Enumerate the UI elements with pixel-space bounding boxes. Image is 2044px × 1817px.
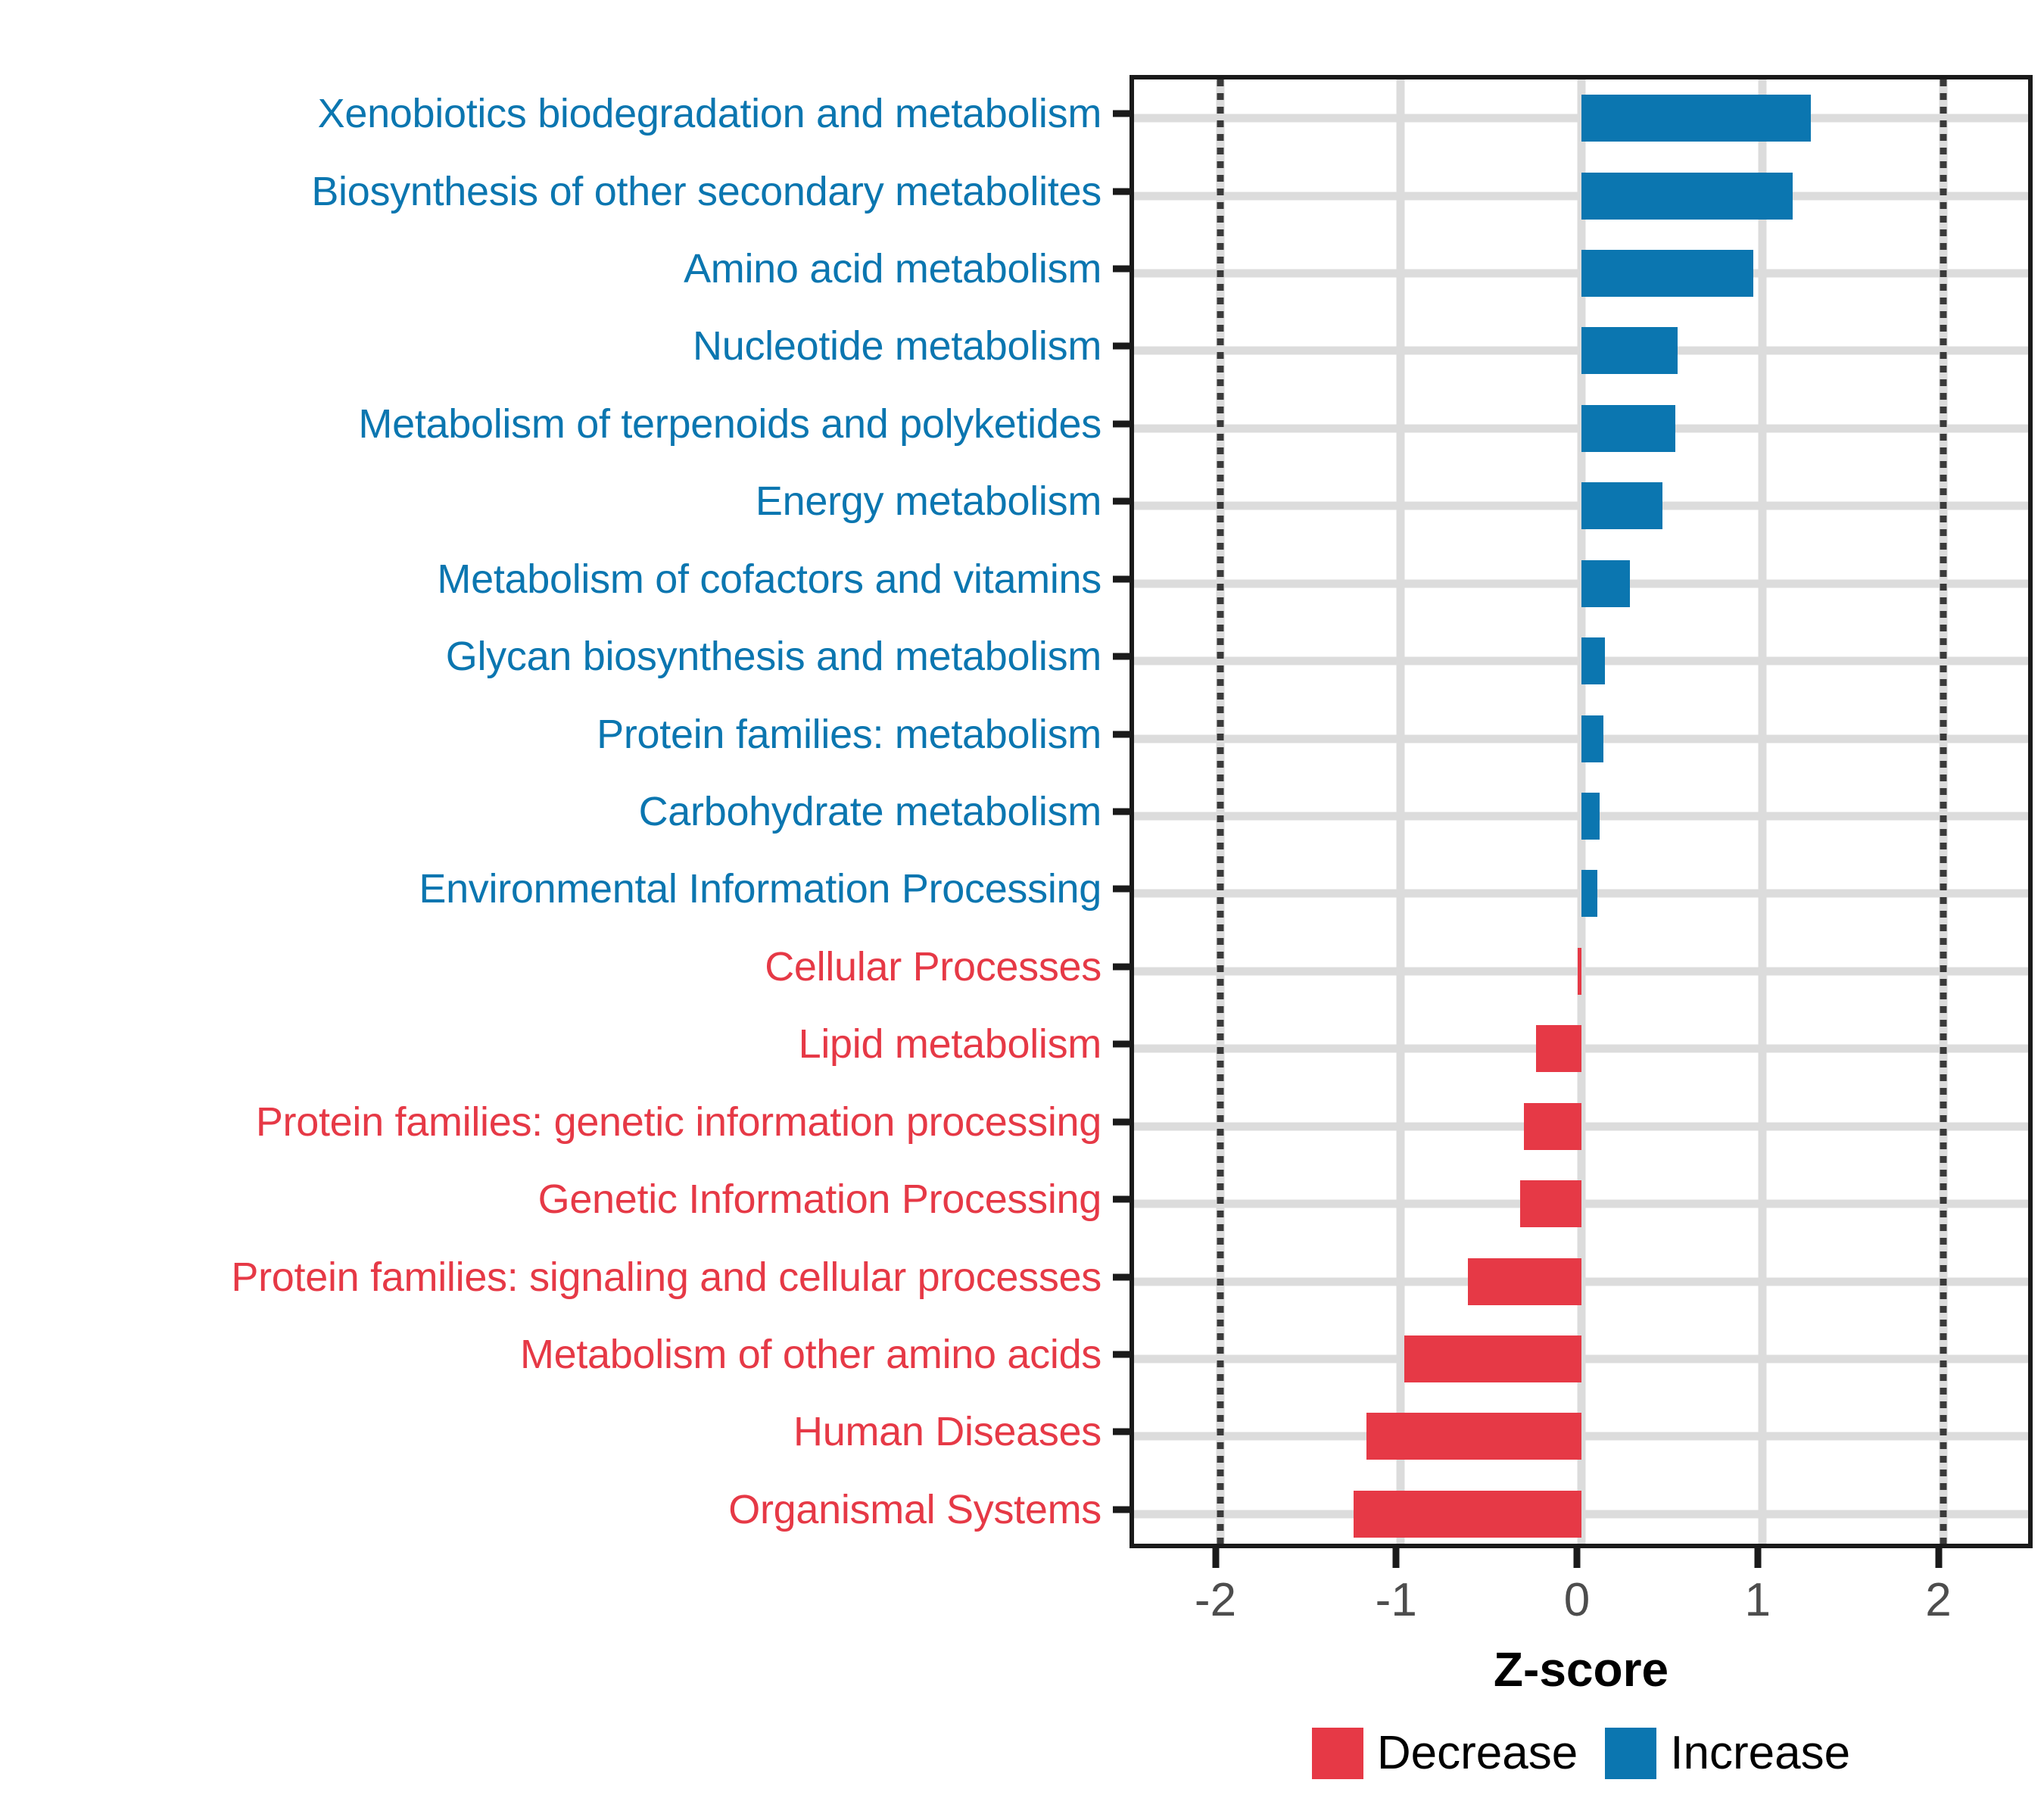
- y-axis-tick: [1113, 188, 1131, 195]
- y-axis-label: Protein families: signaling and cellular…: [0, 1257, 1101, 1298]
- y-axis-label: Glycan biosynthesis and metabolism: [0, 636, 1101, 677]
- plot-panel: [1129, 75, 2033, 1548]
- bar: [1354, 1491, 1581, 1538]
- y-axis-label: Organismal Systems: [0, 1489, 1101, 1530]
- bar: [1581, 560, 1630, 607]
- gridline-vertical: [1758, 79, 1766, 1544]
- y-axis-label: Cellular Processes: [0, 946, 1101, 987]
- y-axis-tick: [1113, 1196, 1131, 1203]
- bar: [1581, 173, 1793, 220]
- legend-swatch: [1312, 1728, 1363, 1779]
- reference-line: [1940, 79, 1946, 1544]
- y-axis-tick: [1113, 731, 1131, 737]
- x-axis-tick-label: -1: [1376, 1573, 1417, 1627]
- y-axis-label: Metabolism of other amino acids: [0, 1334, 1101, 1375]
- bar: [1536, 1025, 1581, 1072]
- bar: [1581, 637, 1605, 684]
- y-axis-label: Protein families: metabolism: [0, 714, 1101, 755]
- x-axis-tick: [1754, 1548, 1761, 1568]
- y-axis-label: Genetic Information Processing: [0, 1179, 1101, 1220]
- y-axis-labels: Xenobiotics biodegradation and metabolis…: [0, 75, 1101, 1548]
- legend-item[interactable]: Decrease: [1312, 1726, 1578, 1780]
- legend: DecreaseIncrease: [1129, 1726, 2033, 1780]
- y-axis-tick: [1113, 420, 1131, 427]
- bar: [1524, 1103, 1581, 1150]
- legend-swatch: [1605, 1728, 1656, 1779]
- bar: [1581, 482, 1662, 529]
- reference-line: [1217, 79, 1223, 1544]
- y-axis-tick: [1113, 1506, 1131, 1513]
- y-axis-label: Protein families: genetic information pr…: [0, 1102, 1101, 1142]
- y-axis-tick: [1113, 575, 1131, 582]
- y-axis-tick: [1113, 498, 1131, 505]
- y-axis-label: Carbohydrate metabolism: [0, 791, 1101, 832]
- bar: [1468, 1258, 1581, 1305]
- bar: [1581, 95, 1811, 142]
- bar: [1581, 793, 1600, 840]
- y-axis-tick: [1113, 111, 1131, 117]
- y-axis-label: Energy metabolism: [0, 481, 1101, 522]
- y-axis-tick: [1113, 653, 1131, 660]
- y-axis-label: Lipid metabolism: [0, 1024, 1101, 1064]
- bar: [1581, 715, 1603, 762]
- gridline-vertical: [1397, 79, 1405, 1544]
- y-axis-label: Metabolism of cofactors and vitamins: [0, 559, 1101, 600]
- x-axis-title: Z-score: [1129, 1641, 2033, 1697]
- bar: [1578, 948, 1581, 995]
- y-axis-tick: [1113, 1351, 1131, 1357]
- y-axis-label: Human Diseases: [0, 1411, 1101, 1452]
- bar: [1581, 870, 1597, 917]
- y-axis-tick: [1113, 266, 1131, 273]
- bar: [1404, 1335, 1581, 1382]
- y-axis-tick: [1113, 886, 1131, 893]
- legend-label: Increase: [1670, 1726, 1850, 1780]
- x-axis-tick-label: 1: [1745, 1573, 1771, 1627]
- x-axis-tick: [1393, 1548, 1400, 1568]
- y-axis-label: Environmental Information Processing: [0, 868, 1101, 909]
- y-axis-label: Metabolism of terpenoids and polyketides: [0, 404, 1101, 444]
- y-axis-label: Biosynthesis of other secondary metaboli…: [0, 171, 1101, 212]
- legend-item[interactable]: Increase: [1605, 1726, 1850, 1780]
- y-axis-tick: [1113, 1118, 1131, 1125]
- y-axis-tick: [1113, 343, 1131, 350]
- y-axis-tick: [1113, 1429, 1131, 1435]
- x-axis-tick: [1574, 1548, 1581, 1568]
- x-axis-tick-label: -2: [1195, 1573, 1236, 1627]
- y-axis-tick: [1113, 963, 1131, 970]
- y-axis-tick: [1113, 1041, 1131, 1048]
- y-axis-label: Nucleotide metabolism: [0, 326, 1101, 366]
- x-axis-tick-label: 0: [1564, 1573, 1590, 1627]
- bar: [1581, 327, 1678, 374]
- bar: [1520, 1180, 1581, 1227]
- y-axis-label: Amino acid metabolism: [0, 248, 1101, 289]
- x-axis-tick: [1212, 1548, 1219, 1568]
- y-axis-tick: [1113, 809, 1131, 815]
- bar: [1366, 1413, 1581, 1460]
- x-axis-tick-label: 2: [1925, 1573, 1951, 1627]
- legend-label: Decrease: [1377, 1726, 1578, 1780]
- x-axis-tick: [1935, 1548, 1942, 1568]
- y-axis-label: Xenobiotics biodegradation and metabolis…: [0, 93, 1101, 134]
- bar: [1581, 405, 1675, 452]
- y-axis-tick: [1113, 1273, 1131, 1280]
- bar: [1581, 250, 1753, 297]
- chart-figure: Xenobiotics biodegradation and metabolis…: [0, 0, 2044, 1817]
